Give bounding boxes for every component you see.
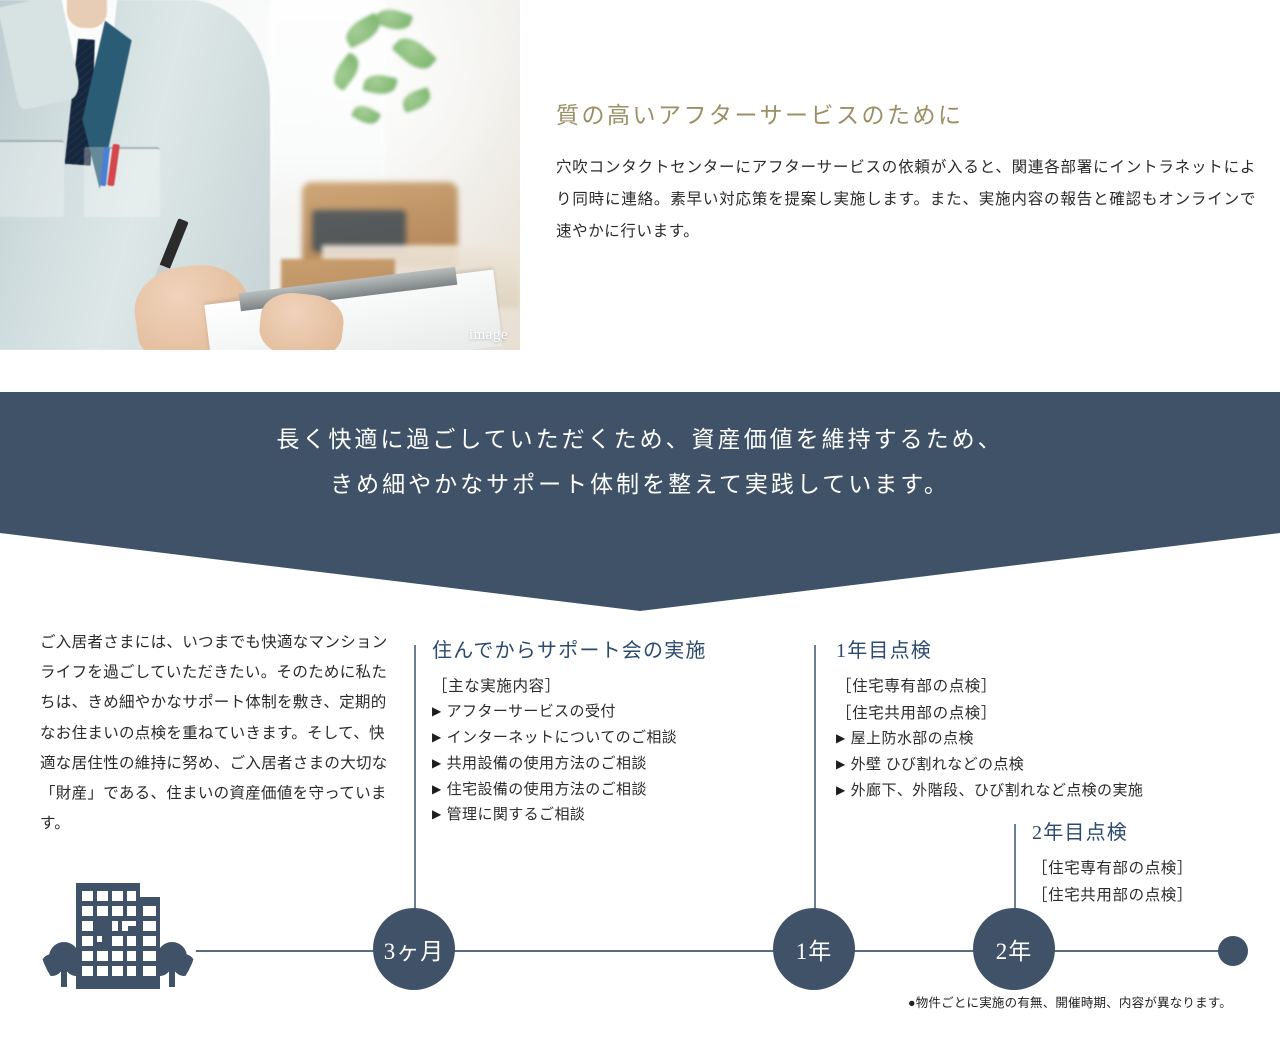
intro-block: 質の高いアフターサービスのために 穴吹コンタクトセンターにアフターサービスの依頼… xyxy=(556,96,1256,247)
column-year2-inspection: 2年目点検 ［住宅専有部の点検］ ［住宅共用部の点検］ xyxy=(1032,816,1232,909)
list-item-label: 共用設備の使用方法のご相談 xyxy=(447,752,647,778)
list-item-label: 外廊下、外階段、ひび割れなど点検の実施 xyxy=(851,779,1144,805)
triangle-bullet-icon: ▶ xyxy=(432,752,442,778)
chest-pocket-left xyxy=(0,140,64,217)
list-item: ▶ 外廊下、外階段、ひび割れなど点検の実施 xyxy=(836,779,1236,805)
building-icon-badge xyxy=(38,853,198,1013)
triangle-bullet-icon: ▶ xyxy=(432,803,442,829)
list-item-label: 管理に関するご相談 xyxy=(447,803,586,829)
neck xyxy=(67,0,108,28)
timeline-end-dot xyxy=(1218,936,1248,966)
list-item: ▶ アフターサービスの受付 xyxy=(432,700,762,726)
column-support-meeting: 住んでからサポート会の実施 ［主な実施内容］ ▶ アフターサービスの受付 ▶ イ… xyxy=(432,634,762,829)
column-bracket: ［住宅専有部の点検］ xyxy=(836,673,1236,700)
milestone-label: 3ヶ月 xyxy=(384,932,445,966)
column-bracket: ［主な実施内容］ xyxy=(432,673,762,700)
list-item-label: アフターサービスの受付 xyxy=(447,700,616,726)
triangle-bullet-icon: ▶ xyxy=(432,726,442,752)
triangle-bullet-icon: ▶ xyxy=(836,753,846,779)
apartment-building-icon xyxy=(38,853,198,1013)
triangle-bullet-icon: ▶ xyxy=(836,727,846,753)
image-watermark: image xyxy=(469,327,508,344)
column-bracket: ［住宅専有部の点検］ xyxy=(1032,855,1232,882)
list-item: ▶ インターネットについてのご相談 xyxy=(432,726,762,752)
plant-decor xyxy=(312,7,458,168)
column-heading: 住んでからサポート会の実施 xyxy=(432,634,762,663)
timeline-stem-3months xyxy=(414,645,416,923)
page-root: image 質の高いアフターサービスのために 穴吹コンタクトセンターにアフターサ… xyxy=(0,0,1280,1050)
timeline-milestone-year2[interactable]: 2年 xyxy=(973,908,1055,990)
milestone-label: 1年 xyxy=(796,932,833,966)
banner-line-1: 長く快適に過ごしていただくため、資産価値を維持するため、 xyxy=(276,418,1003,463)
column-heading: 1年目点検 xyxy=(836,634,1236,663)
list-item: ▶ 外壁 ひび割れなどの点検 xyxy=(836,753,1236,779)
footnote-text: ●物件ごとに実施の有無、開催時期、内容が異なります。 xyxy=(908,992,1232,1011)
timeline-milestone-year1[interactable]: 1年 xyxy=(773,908,855,990)
list-item: ▶ 管理に関するご相談 xyxy=(432,803,762,829)
list-item: ▶ 共用設備の使用方法のご相談 xyxy=(432,752,762,778)
milestone-label: 2年 xyxy=(996,932,1033,966)
intro-heading: 質の高いアフターサービスのために xyxy=(556,96,1256,130)
column-bracket: ［住宅共用部の点検］ xyxy=(836,700,1236,727)
lead-paragraph: ご入居者さまには、いつまでも快適なマンションライフを過ごしていただきたい。そのた… xyxy=(40,628,392,840)
list-item: ▶ 屋上防水部の点検 xyxy=(836,727,1236,753)
banner-line-2: きめ細やかなサポート体制を整えて実践しています。 xyxy=(330,463,950,508)
slogan-banner: 長く快適に過ごしていただくため、資産価値を維持するため、 きめ細やかなサポート体… xyxy=(0,392,1280,533)
column-year1-inspection: 1年目点検 ［住宅専有部の点検］ ［住宅共用部の点検］ ▶ 屋上防水部の点検 ▶… xyxy=(836,634,1236,805)
list-item-label: 住宅設備の使用方法のご相談 xyxy=(447,778,647,804)
chest-pocket-right xyxy=(84,147,160,217)
column-bracket: ［住宅共用部の点検］ xyxy=(1032,882,1232,909)
list-item-label: 屋上防水部の点検 xyxy=(851,727,974,753)
timeline-axis xyxy=(120,950,1235,952)
triangle-bullet-icon: ▶ xyxy=(836,779,846,805)
column-heading: 2年目点検 xyxy=(1032,816,1232,845)
list-item: ▶ 住宅設備の使用方法のご相談 xyxy=(432,778,762,804)
timeline-stem-year1 xyxy=(814,645,816,923)
triangle-bullet-icon: ▶ xyxy=(432,778,442,804)
list-item-label: インターネットについてのご相談 xyxy=(447,726,678,752)
intro-body: 穴吹コンタクトセンターにアフターサービスの依頼が入ると、関連各部署にイントラネッ… xyxy=(556,152,1256,247)
banner-arrow-point xyxy=(0,533,1280,611)
list-item-label: 外壁 ひび割れなどの点検 xyxy=(851,753,1025,779)
triangle-bullet-icon: ▶ xyxy=(432,700,442,726)
top-section: image 質の高いアフターサービスのために 穴吹コンタクトセンターにアフターサ… xyxy=(0,0,1280,380)
maintenance-staff-photo: image xyxy=(0,0,520,350)
timeline-milestone-3months[interactable]: 3ヶ月 xyxy=(373,908,455,990)
